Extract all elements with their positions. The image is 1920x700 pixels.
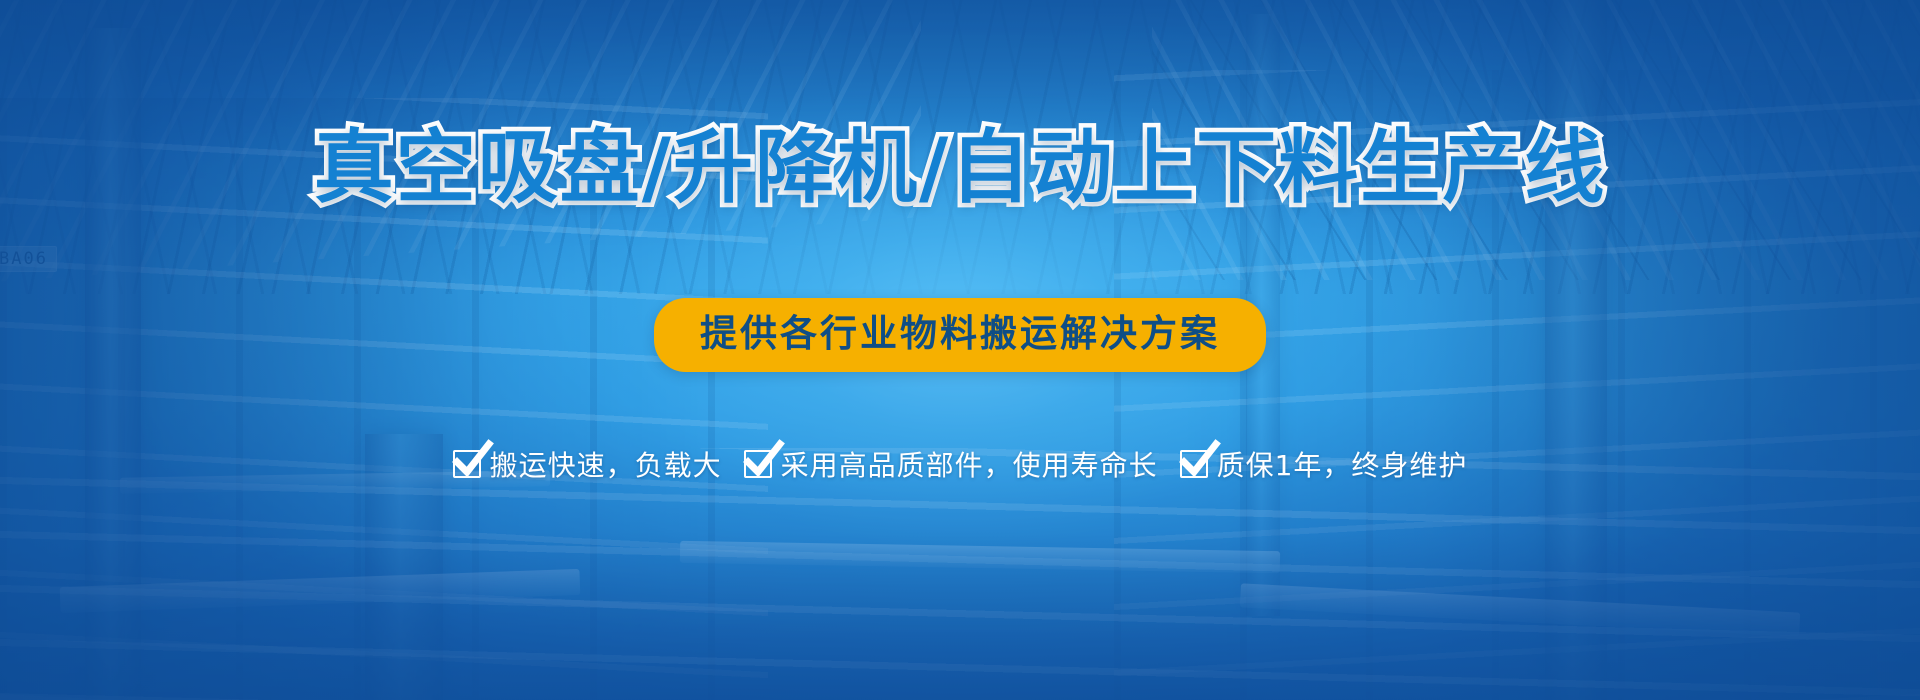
feature-item: 采用高品质部件，使用寿命长 bbox=[744, 444, 1158, 484]
checkbox-check-icon bbox=[1180, 450, 1208, 478]
feature-item: 质保1年，终身维护 bbox=[1180, 444, 1468, 484]
banner-content: 真空吸盘/升降机/自动上下料生产线 提供各行业物料搬运解决方案 搬运快速，负载大… bbox=[0, 0, 1920, 700]
checkbox-check-icon bbox=[744, 450, 772, 478]
subtitle-badge: 提供各行业物料搬运解决方案 bbox=[654, 298, 1266, 372]
feature-label: 搬运快速，负载大 bbox=[490, 444, 722, 484]
promo-banner: BA06 真空吸盘/升降机/自动上下料生产线 提供各行业物料搬运解决方案 搬运快… bbox=[0, 0, 1920, 700]
feature-label: 采用高品质部件，使用寿命长 bbox=[781, 444, 1158, 484]
headline-title: 真空吸盘/升降机/自动上下料生产线 bbox=[314, 126, 1606, 211]
checkbox-check-icon bbox=[453, 450, 481, 478]
feature-item: 搬运快速，负载大 bbox=[453, 444, 722, 484]
feature-list: 搬运快速，负载大 采用高品质部件，使用寿命长 质保1年，终身维护 bbox=[453, 444, 1468, 484]
feature-label: 质保1年，终身维护 bbox=[1217, 444, 1468, 484]
